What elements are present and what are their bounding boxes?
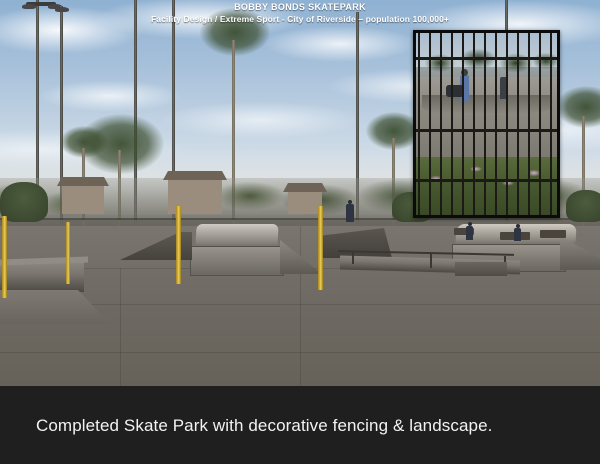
fence-picket <box>429 33 431 215</box>
fence-picket <box>550 33 552 215</box>
pedestrian-figure <box>466 226 473 240</box>
caption-text: Completed Skate Park with decorative fen… <box>0 415 492 436</box>
fence-picket <box>418 33 420 215</box>
park-bench <box>540 230 566 238</box>
inset-treeline <box>416 47 557 81</box>
fence-picket <box>473 33 475 215</box>
pedestrian-figure <box>514 228 521 241</box>
fence-picket <box>440 33 442 215</box>
concrete-seam <box>300 226 301 386</box>
inset-landscape-grass <box>416 157 557 215</box>
page-subtitle: Facility Design / Extreme Sport - City o… <box>0 14 600 25</box>
background-house <box>288 192 322 214</box>
fence-rail <box>416 129 557 132</box>
fence-rail <box>416 57 557 60</box>
fence-rail <box>416 179 557 182</box>
fence-picket <box>495 33 497 215</box>
yellow-bollard <box>66 222 70 284</box>
fence-picket <box>528 33 530 215</box>
background-house <box>62 186 104 214</box>
grind-rail-leg <box>430 254 432 268</box>
fence-picket <box>484 33 486 215</box>
ramp-grate-panel <box>190 246 284 276</box>
fence-picket <box>539 33 541 215</box>
skate-box <box>455 262 507 276</box>
yellow-bollard <box>2 216 7 298</box>
yellow-bollard <box>176 206 181 284</box>
inset-photo-image <box>416 33 557 215</box>
metal-quarter-pipe <box>195 224 278 248</box>
slide-header: BOBBY BONDS SKATEPARK Facility Design / … <box>0 2 600 25</box>
page-title: BOBBY BONDS SKATEPARK <box>0 2 600 13</box>
skate-ledge <box>0 262 84 292</box>
inset-photo <box>413 30 560 218</box>
shrub <box>0 182 48 222</box>
fence-picket <box>517 33 519 215</box>
yellow-bollard <box>318 206 323 290</box>
fence-picket <box>462 33 464 215</box>
shrub <box>566 190 600 222</box>
caption-band: Completed Skate Park with decorative fen… <box>0 386 600 464</box>
skater-figure <box>346 204 354 222</box>
fence-picket <box>451 33 453 215</box>
grind-rail-leg <box>352 252 354 264</box>
presentation-slide: BOBBY BONDS SKATEPARK Facility Design / … <box>0 0 600 464</box>
background-fence <box>0 218 600 220</box>
fence-picket <box>506 33 508 215</box>
concrete-seam <box>120 268 121 386</box>
